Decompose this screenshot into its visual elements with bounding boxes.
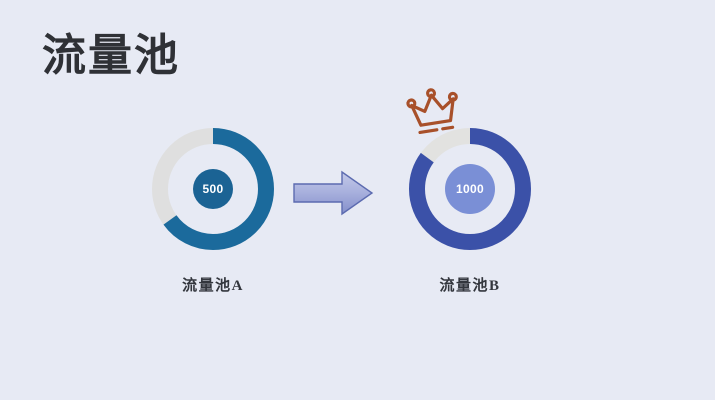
right-arrow-shape bbox=[294, 172, 372, 214]
pool-label-a: 流量池A bbox=[152, 274, 274, 295]
pool-label-b: 流量池B bbox=[409, 274, 531, 295]
slide-canvas: 流量池 500 流量池A bbox=[0, 0, 715, 400]
pool-group-a: 500 流量池A bbox=[152, 128, 274, 295]
donut-center-circle-b bbox=[445, 164, 495, 214]
donut-chart-a: 500 bbox=[152, 128, 274, 250]
crown-shape bbox=[406, 86, 461, 134]
donut-center-circle-a bbox=[193, 169, 233, 209]
donut-svg-a bbox=[152, 128, 274, 250]
pool-group-b: 1000 流量池B bbox=[409, 128, 531, 295]
right-arrow-icon bbox=[292, 168, 374, 218]
page-title: 流量池 bbox=[42, 34, 180, 78]
donut-svg-b bbox=[409, 128, 531, 250]
crown-icon bbox=[404, 86, 464, 138]
donut-chart-b: 1000 bbox=[409, 128, 531, 250]
